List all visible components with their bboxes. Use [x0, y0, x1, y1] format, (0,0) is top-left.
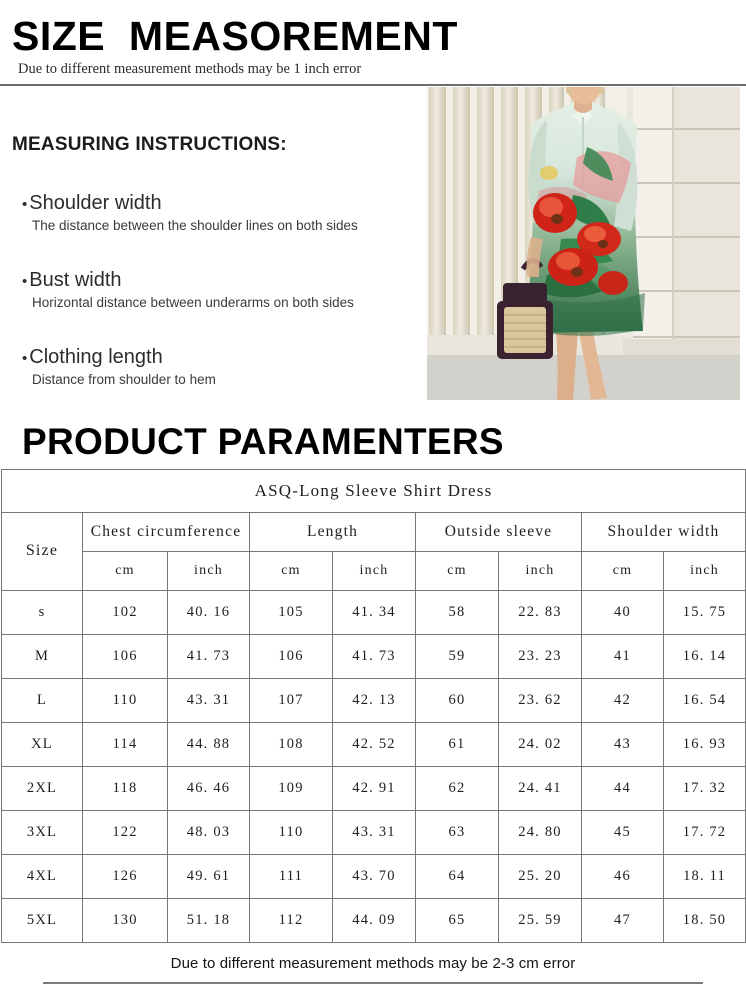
cell-shoulder-inch: 17. 72 — [664, 810, 746, 854]
unit-header-chest-inch: inch — [168, 551, 250, 590]
cell-length-cm: 110 — [250, 810, 333, 854]
cell-shoulder-inch: 16. 54 — [664, 678, 746, 722]
size-label: 5XL — [2, 898, 83, 942]
cell-shoulder-cm: 40 — [582, 590, 664, 634]
instruction-term-label: Clothing length — [29, 346, 162, 369]
cell-shoulder-inch: 16. 14 — [664, 634, 746, 678]
cell-shoulder-inch: 18. 11 — [664, 854, 746, 898]
cell-length-cm: 107 — [250, 678, 333, 722]
instruction-term: • Shoulder width — [22, 192, 412, 215]
cell-sleeve-cm: 61 — [416, 722, 499, 766]
cell-shoulder-inch: 18. 50 — [664, 898, 746, 942]
instruction-item-bust-width: • Bust width Horizontal distance between… — [22, 269, 412, 312]
cell-length-cm: 111 — [250, 854, 333, 898]
cell-length-cm: 105 — [250, 590, 333, 634]
table-row: 3XL 122 48. 03 110 43. 31 63 24. 80 45 1… — [2, 810, 746, 854]
cell-chest-inch: 49. 61 — [168, 854, 250, 898]
cell-length-inch: 41. 34 — [333, 590, 416, 634]
cell-length-inch: 43. 70 — [333, 854, 416, 898]
cell-shoulder-cm: 41 — [582, 634, 664, 678]
size-table: ASQ-Long Sleeve Shirt Dress Size Chest c… — [1, 469, 746, 943]
cell-chest-cm: 114 — [83, 722, 168, 766]
unit-header-length-cm: cm — [250, 551, 333, 590]
column-header-shoulder-width: Shoulder width — [582, 512, 746, 551]
product-photo — [427, 87, 740, 400]
cell-chest-inch: 44. 88 — [168, 722, 250, 766]
instruction-item-shoulder-width: • Shoulder width The distance between th… — [22, 192, 412, 235]
size-label: 4XL — [2, 854, 83, 898]
table-row: M 106 41. 73 106 41. 73 59 23. 23 41 16.… — [2, 634, 746, 678]
cell-chest-cm: 110 — [83, 678, 168, 722]
unit-header-chest-cm: cm — [83, 551, 168, 590]
page-title: SIZE MEASOREMENT — [12, 14, 746, 58]
cell-chest-cm: 106 — [83, 634, 168, 678]
instructions-and-photo-section: MEASURING INSTRUCTIONS: • Shoulder width… — [0, 86, 746, 416]
cell-chest-cm: 126 — [83, 854, 168, 898]
cell-length-inch: 42. 52 — [333, 722, 416, 766]
cell-sleeve-inch: 25. 59 — [499, 898, 582, 942]
cell-sleeve-cm: 64 — [416, 854, 499, 898]
footer-note: Due to different measurement methods may… — [0, 955, 746, 972]
size-label: s — [2, 590, 83, 634]
cell-chest-inch: 40. 16 — [168, 590, 250, 634]
instruction-description: Distance from shoulder to hem — [32, 372, 412, 389]
unit-header-shoulder-inch: inch — [664, 551, 746, 590]
table-row: 4XL 126 49. 61 111 43. 70 64 25. 20 46 1… — [2, 854, 746, 898]
cell-shoulder-cm: 46 — [582, 854, 664, 898]
cell-chest-inch: 51. 18 — [168, 898, 250, 942]
product-name-cell: ASQ-Long Sleeve Shirt Dress — [2, 469, 746, 512]
cell-sleeve-inch: 23. 23 — [499, 634, 582, 678]
instruction-term-label: Bust width — [29, 269, 121, 292]
cell-shoulder-cm: 42 — [582, 678, 664, 722]
size-label: XL — [2, 722, 83, 766]
table-row: 2XL 118 46. 46 109 42. 91 62 24. 41 44 1… — [2, 766, 746, 810]
instruction-description: The distance between the shoulder lines … — [32, 218, 412, 235]
cell-length-inch: 42. 13 — [333, 678, 416, 722]
cell-length-inch: 43. 31 — [333, 810, 416, 854]
cell-sleeve-inch: 22. 83 — [499, 590, 582, 634]
table-row: s 102 40. 16 105 41. 34 58 22. 83 40 15.… — [2, 590, 746, 634]
cell-sleeve-cm: 63 — [416, 810, 499, 854]
measuring-instructions: MEASURING INSTRUCTIONS: • Shoulder width… — [12, 134, 412, 389]
size-table-wrapper: ASQ-Long Sleeve Shirt Dress Size Chest c… — [0, 469, 746, 943]
cell-chest-cm: 130 — [83, 898, 168, 942]
cell-chest-inch: 41. 73 — [168, 634, 250, 678]
cell-shoulder-cm: 47 — [582, 898, 664, 942]
cell-sleeve-cm: 59 — [416, 634, 499, 678]
cell-chest-cm: 122 — [83, 810, 168, 854]
cell-sleeve-cm: 65 — [416, 898, 499, 942]
cell-shoulder-inch: 16. 93 — [664, 722, 746, 766]
header-subtitle: Due to different measurement methods may… — [18, 60, 746, 79]
cell-length-cm: 112 — [250, 898, 333, 942]
instruction-term-label: Shoulder width — [29, 192, 161, 215]
cell-sleeve-cm: 60 — [416, 678, 499, 722]
bullet-icon: • — [22, 351, 27, 366]
cell-chest-cm: 102 — [83, 590, 168, 634]
bullet-icon: • — [22, 197, 27, 212]
cell-length-cm: 108 — [250, 722, 333, 766]
instruction-description: Horizontal distance between underarms on… — [32, 295, 412, 312]
table-row-product-name: ASQ-Long Sleeve Shirt Dress — [2, 469, 746, 512]
cell-chest-inch: 48. 03 — [168, 810, 250, 854]
header-block: SIZE MEASOREMENT Due to different measur… — [0, 0, 746, 86]
product-parameters-heading: PRODUCT PARAMENTERS — [22, 422, 746, 463]
cell-chest-cm: 118 — [83, 766, 168, 810]
table-row-unit-headers: cm inch cm inch cm inch cm inch — [2, 551, 746, 590]
table-row: XL 114 44. 88 108 42. 52 61 24. 02 43 16… — [2, 722, 746, 766]
cell-length-cm: 106 — [250, 634, 333, 678]
cell-sleeve-inch: 24. 80 — [499, 810, 582, 854]
cell-sleeve-cm: 58 — [416, 590, 499, 634]
cell-sleeve-inch: 24. 02 — [499, 722, 582, 766]
cell-chest-inch: 46. 46 — [168, 766, 250, 810]
instructions-heading: MEASURING INSTRUCTIONS: — [12, 134, 412, 156]
column-header-size: Size — [2, 512, 83, 590]
cell-sleeve-cm: 62 — [416, 766, 499, 810]
footer-divider — [43, 982, 703, 984]
bullet-icon: • — [22, 274, 27, 289]
cell-sleeve-inch: 25. 20 — [499, 854, 582, 898]
cell-sleeve-inch: 23. 62 — [499, 678, 582, 722]
cell-length-inch: 44. 09 — [333, 898, 416, 942]
size-label: 2XL — [2, 766, 83, 810]
instruction-term: • Clothing length — [22, 346, 412, 369]
size-label: M — [2, 634, 83, 678]
cell-sleeve-inch: 24. 41 — [499, 766, 582, 810]
table-row-group-headers: Size Chest circumference Length Outside … — [2, 512, 746, 551]
table-row: L 110 43. 31 107 42. 13 60 23. 62 42 16.… — [2, 678, 746, 722]
cell-shoulder-inch: 15. 75 — [664, 590, 746, 634]
column-header-chest-circumference: Chest circumference — [83, 512, 250, 551]
cell-shoulder-cm: 44 — [582, 766, 664, 810]
column-header-outside-sleeve: Outside sleeve — [416, 512, 582, 551]
size-label: L — [2, 678, 83, 722]
unit-header-length-inch: inch — [333, 551, 416, 590]
cell-shoulder-cm: 43 — [582, 722, 664, 766]
size-label: 3XL — [2, 810, 83, 854]
cell-length-inch: 42. 91 — [333, 766, 416, 810]
column-header-length: Length — [250, 512, 416, 551]
unit-header-sleeve-inch: inch — [499, 551, 582, 590]
unit-header-sleeve-cm: cm — [416, 551, 499, 590]
instruction-term: • Bust width — [22, 269, 412, 292]
cell-length-inch: 41. 73 — [333, 634, 416, 678]
stone-pillar — [633, 87, 740, 357]
cell-length-cm: 109 — [250, 766, 333, 810]
table-row: 5XL 130 51. 18 112 44. 09 65 25. 59 47 1… — [2, 898, 746, 942]
cell-shoulder-inch: 17. 32 — [664, 766, 746, 810]
instruction-item-clothing-length: • Clothing length Distance from shoulder… — [22, 346, 412, 389]
cell-chest-inch: 43. 31 — [168, 678, 250, 722]
unit-header-shoulder-cm: cm — [582, 551, 664, 590]
cell-shoulder-cm: 45 — [582, 810, 664, 854]
